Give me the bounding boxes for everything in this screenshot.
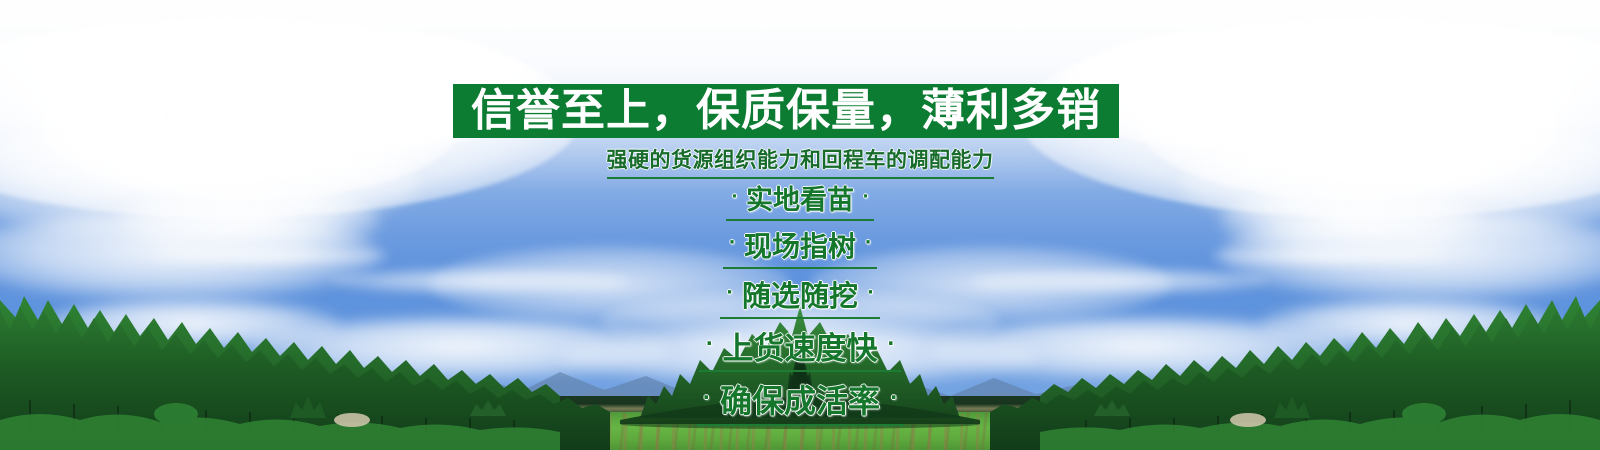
bullet-dot-right-icon: · bbox=[859, 235, 877, 252]
feature-label-4: 上货速度快 bbox=[719, 323, 880, 368]
feature-list: · 实地看苗 · · 现场指树 · · 随选随挖 · · 上货速度快 · · 确… bbox=[0, 178, 1600, 426]
feature-item-2: · 现场指树 · bbox=[723, 225, 877, 269]
headline-banner-bar: 信誉至上，保质保量，薄利多销 bbox=[453, 84, 1119, 138]
bullet-dot-right-icon: · bbox=[883, 388, 904, 408]
headline-text: 信誉至上，保质保量，薄利多销 bbox=[471, 89, 1101, 133]
feature-label-2: 现场指树 bbox=[741, 225, 859, 265]
promo-banner: 信誉至上，保质保量，薄利多销 强硬的货源组织能力和回程车的调配能力 · 实地看苗… bbox=[0, 0, 1600, 450]
bullet-dot-right-icon: · bbox=[861, 284, 880, 302]
bullet-dot-left-icon: · bbox=[720, 284, 739, 302]
bullet-dot-right-icon: · bbox=[857, 188, 875, 205]
subtitle-text: 强硬的货源组织能力和回程车的调配能力 bbox=[607, 144, 994, 179]
feature-item-1: · 实地看苗 · bbox=[726, 178, 875, 221]
feature-label-3: 随选随挖 bbox=[739, 273, 861, 315]
bullet-dot-right-icon: · bbox=[881, 334, 901, 353]
bullet-dot-left-icon: · bbox=[726, 188, 744, 205]
subtitle-container: 强硬的货源组织能力和回程车的调配能力 bbox=[0, 144, 1600, 179]
feature-label-1: 实地看苗 bbox=[743, 178, 856, 217]
feature-label-5: 确保成活率 bbox=[717, 376, 883, 422]
bullet-dot-left-icon: · bbox=[699, 334, 719, 353]
feature-item-5: · 确保成活率 · bbox=[696, 376, 904, 426]
feature-item-3: · 随选随挖 · bbox=[720, 273, 880, 319]
feature-item-4: · 上货速度快 · bbox=[699, 323, 901, 372]
bullet-dot-left-icon: · bbox=[723, 235, 741, 252]
bullet-dot-left-icon: · bbox=[696, 388, 717, 408]
